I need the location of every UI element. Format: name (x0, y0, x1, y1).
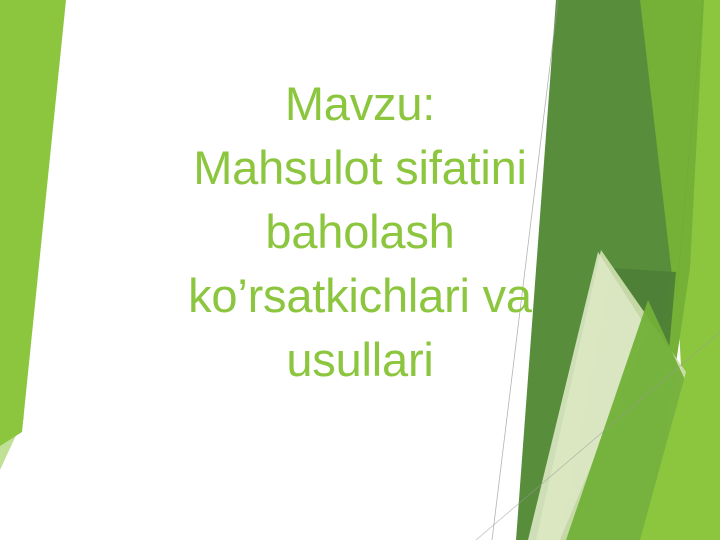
bright-green-bottom-block (640, 348, 720, 540)
right-bright-column (676, 0, 720, 540)
hairline-vertical-right (676, 0, 703, 300)
title-line-4: ko’rsatkichlari va (78, 264, 642, 328)
title-line-2: Mahsulot sifatini (78, 136, 642, 200)
slide-canvas: Mavzu: Mahsulot sifatini baholash ko’rsa… (0, 0, 720, 540)
left-green-wedge-tip (0, 400, 24, 470)
title-line-5: usullari (78, 328, 642, 392)
slide-title: Mavzu: Mahsulot sifatini baholash ko’rsa… (78, 72, 642, 392)
left-green-wedge (0, 0, 66, 446)
title-line-1: Mavzu: (78, 72, 642, 136)
title-line-3: baholash (78, 200, 642, 264)
